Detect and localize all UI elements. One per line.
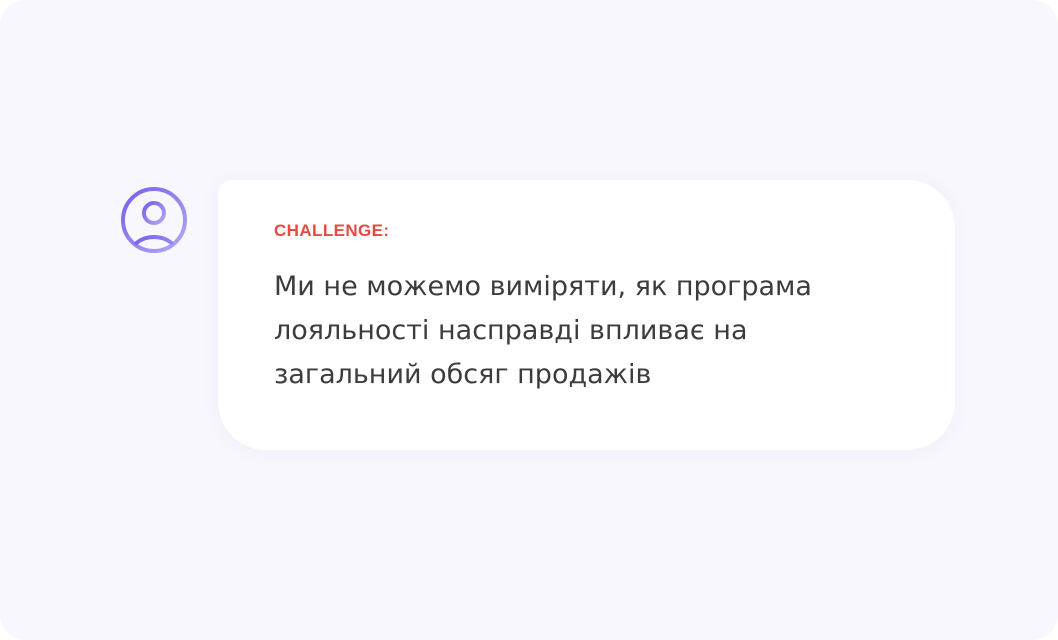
challenge-body: Ми не можемо виміряти, як програма лояль… [274,265,894,397]
page-root: CHALLENGE: Ми не можемо виміряти, як про… [0,0,1058,640]
challenge-message: CHALLENGE: Ми не можемо виміряти, як про… [118,180,955,450]
challenge-body-line: лояльності насправді впливає на [274,309,894,353]
user-avatar-icon [118,184,190,256]
challenge-card: CHALLENGE: Ми не можемо виміряти, як про… [218,180,955,450]
challenge-label: CHALLENGE: [274,222,899,239]
challenge-body-line: Ми не можемо виміряти, як програма [274,265,894,309]
challenge-body-line: загальний обсяг продажів [274,353,894,397]
